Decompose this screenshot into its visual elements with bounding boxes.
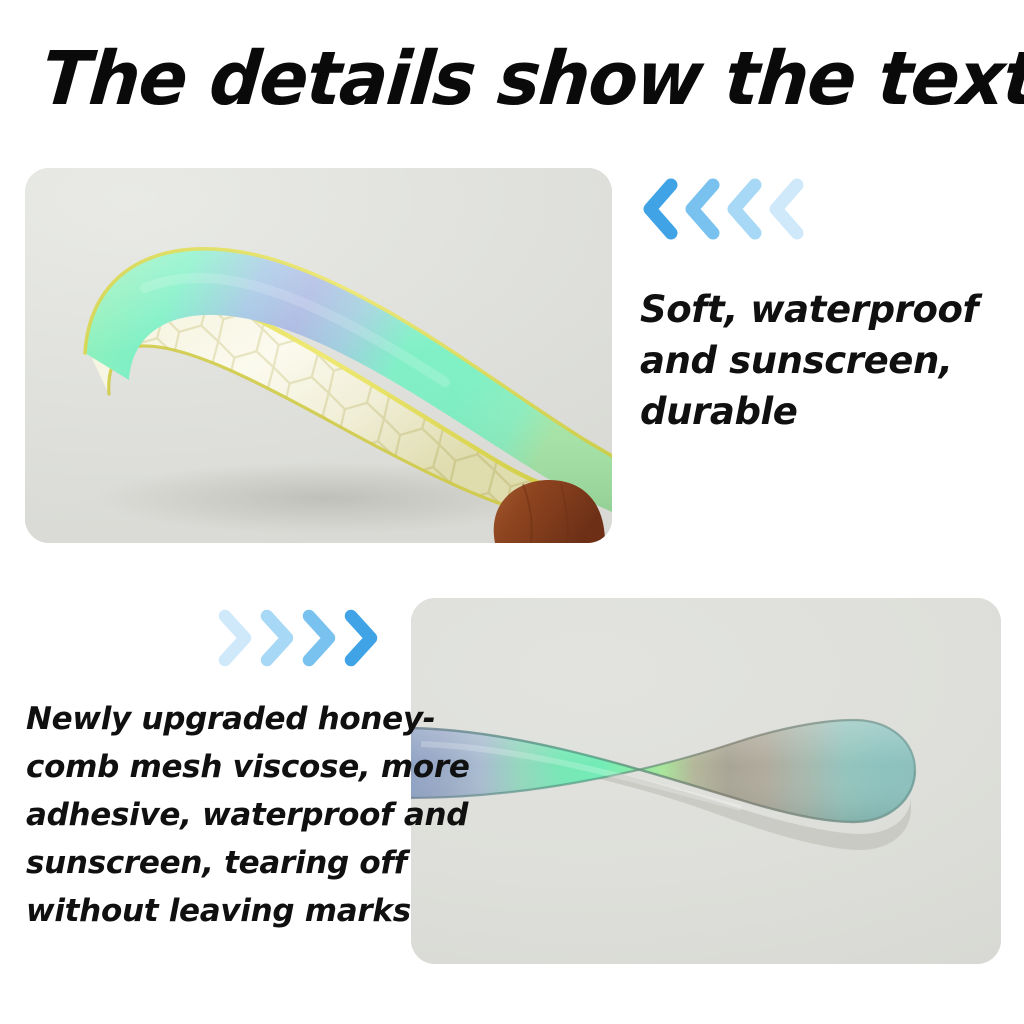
holographic-tape-loop-photo — [25, 168, 612, 543]
chevron-left-icon — [638, 176, 680, 242]
chevron-right-icon — [298, 608, 340, 668]
chevron-right-icon — [340, 608, 382, 668]
page-title: The details show the texture — [38, 36, 967, 122]
caption-top-right: Soft, waterproof and sunscreen, durable — [640, 284, 1000, 437]
chevron-left-icon — [764, 176, 806, 242]
tape-loop-illustration — [25, 168, 612, 543]
caption-line: Newly upgraded honey- — [26, 695, 401, 743]
caption-line: Soft, waterproof — [640, 284, 1000, 335]
caption-bottom-left: Newly upgraded honey- comb mesh viscose,… — [26, 695, 401, 935]
chevron-group-left — [638, 176, 796, 242]
caption-line: sunscreen, tearing off — [26, 839, 401, 887]
infographic-canvas: The details show the texture — [0, 0, 1024, 1024]
caption-line: without leaving marks — [26, 887, 401, 935]
caption-line: comb mesh viscose, more — [26, 743, 401, 791]
caption-line: and sunscreen, — [640, 335, 1000, 386]
chevron-right-icon — [256, 608, 298, 668]
strip-body — [411, 720, 915, 822]
chevron-group-right — [214, 608, 372, 668]
caption-line: durable — [640, 386, 1000, 437]
chevron-left-icon — [680, 176, 722, 242]
holographic-strip-closeup-photo — [411, 598, 1001, 964]
chevron-left-icon — [722, 176, 764, 242]
chevron-right-icon — [214, 608, 256, 668]
caption-line: adhesive, waterproof and — [26, 791, 401, 839]
holographic-strip-illustration — [411, 598, 1001, 964]
